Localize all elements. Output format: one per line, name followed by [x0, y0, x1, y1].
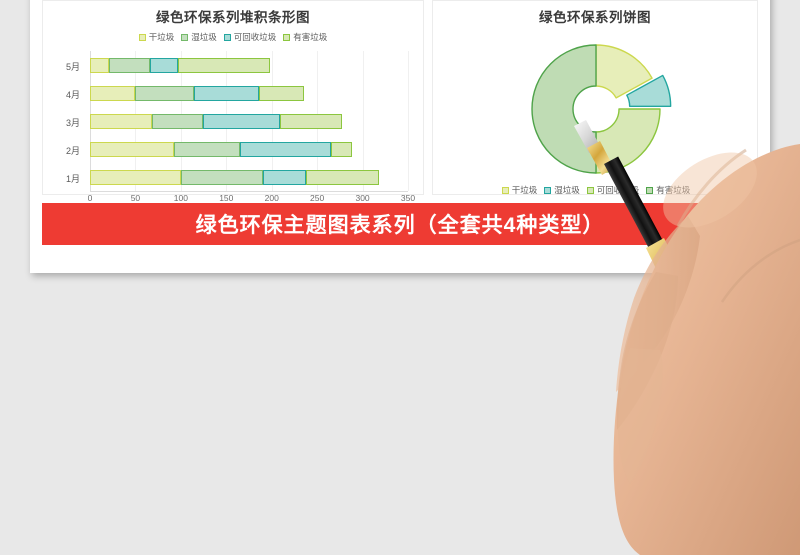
x-tick-label: 250 [310, 193, 324, 203]
bar-stack-track [90, 114, 408, 129]
page-sheet: 绿色环保系列堆积条形图 干垃圾湿垃圾可回收垃圾有害垃圾 5月4月3月2月1月 0… [30, 0, 770, 273]
legend-swatch-icon [139, 34, 146, 41]
x-tick-label: 350 [401, 193, 415, 203]
bar-segment[interactable] [90, 86, 135, 101]
legend-label: 干垃圾 [512, 184, 538, 196]
bar-segment[interactable] [280, 114, 342, 129]
legend-label: 湿垃圾 [191, 31, 217, 43]
bar-segment[interactable] [174, 142, 240, 157]
legend-label: 湿垃圾 [554, 184, 580, 196]
legend-label: 有害垃圾 [293, 31, 327, 43]
bar-segment[interactable] [90, 170, 181, 185]
bar-segment[interactable] [178, 58, 270, 73]
bar-segment[interactable] [109, 58, 150, 73]
bar-legend-item[interactable]: 可回收垃圾 [224, 31, 277, 43]
legend-label: 有害垃圾 [656, 184, 690, 196]
x-tick-label: 0 [88, 193, 93, 203]
bar-category-label: 3月 [46, 116, 80, 129]
legend-label: 可回收垃圾 [597, 184, 640, 196]
legend-swatch-icon [502, 187, 509, 194]
legend-swatch-icon [224, 34, 231, 41]
legend-label: 可回收垃圾 [234, 31, 277, 43]
bar-legend-item[interactable]: 有害垃圾 [283, 31, 327, 43]
bar-category-label: 4月 [46, 88, 80, 101]
bar-chart-card: 绿色环保系列堆积条形图 干垃圾湿垃圾可回收垃圾有害垃圾 5月4月3月2月1月 0… [42, 0, 424, 195]
bar-chart-plot: 5月4月3月2月1月 050100150200250300350 [43, 51, 425, 196]
bar-segment[interactable] [135, 86, 194, 101]
legend-swatch-icon [646, 187, 653, 194]
bar-stack-track [90, 170, 408, 185]
bar-row[interactable]: 5月 [43, 51, 425, 79]
pie-legend-item[interactable]: 干垃圾 [502, 184, 538, 196]
bar-segment[interactable] [331, 142, 352, 157]
x-tick-label: 150 [219, 193, 233, 203]
bar-chart-title: 绿色环保系列堆积条形图 [43, 6, 423, 26]
x-tick-label: 300 [355, 193, 369, 203]
pie-chart-plot [433, 39, 759, 179]
bar-chart-legend: 干垃圾湿垃圾可回收垃圾有害垃圾 [43, 31, 423, 43]
bar-segment[interactable] [203, 114, 280, 129]
bar-segment[interactable] [90, 142, 174, 157]
pie-chart-legend-wrap: 干垃圾湿垃圾可回收垃圾有害垃圾 [433, 179, 759, 196]
pie-slice[interactable] [532, 45, 596, 173]
bar-row[interactable]: 2月 [43, 135, 425, 163]
bar-segment[interactable] [152, 114, 203, 129]
pie-legend-item[interactable]: 有害垃圾 [646, 184, 690, 196]
bar-segment[interactable] [150, 58, 178, 73]
bar-segment[interactable] [240, 142, 331, 157]
promo-banner-text: 绿色环保主题图表系列（全套共4种类型） [196, 209, 605, 239]
doughnut-svg [433, 39, 759, 179]
bar-legend-item[interactable]: 湿垃圾 [181, 31, 217, 43]
legend-swatch-icon [544, 187, 551, 194]
bar-category-label: 5月 [46, 60, 80, 73]
bar-row[interactable]: 1月 [43, 163, 425, 191]
legend-swatch-icon [587, 187, 594, 194]
bar-segment[interactable] [259, 86, 304, 101]
bar-segment[interactable] [263, 170, 307, 185]
bar-row[interactable]: 4月 [43, 79, 425, 107]
bar-stack-track [90, 58, 408, 73]
legend-label: 干垃圾 [149, 31, 175, 43]
bar-row[interactable]: 3月 [43, 107, 425, 135]
pie-chart-legend: 干垃圾湿垃圾可回收垃圾有害垃圾 [433, 184, 759, 196]
bar-legend-item[interactable]: 干垃圾 [139, 31, 175, 43]
pie-legend-item[interactable]: 可回收垃圾 [587, 184, 640, 196]
legend-swatch-icon [283, 34, 290, 41]
bar-segment[interactable] [90, 114, 152, 129]
pie-chart-title: 绿色环保系列饼图 [433, 6, 757, 26]
x-tick-label: 200 [265, 193, 279, 203]
pie-slice[interactable] [596, 109, 660, 173]
legend-swatch-icon [181, 34, 188, 41]
bar-x-axis-line [90, 191, 408, 192]
bar-segment[interactable] [181, 170, 263, 185]
x-tick-label: 100 [174, 193, 188, 203]
pie-chart-card: 绿色环保系列饼图 干垃圾湿垃圾可回收垃圾有害垃圾 [432, 0, 758, 195]
x-tick-label: 50 [131, 193, 140, 203]
bar-segment[interactable] [90, 58, 109, 73]
bar-segment[interactable] [306, 170, 379, 185]
pie-legend-item[interactable]: 湿垃圾 [544, 184, 580, 196]
bar-stack-track [90, 142, 408, 157]
promo-banner: 绿色环保主题图表系列（全套共4种类型） [42, 203, 758, 245]
bar-stack-track [90, 86, 408, 101]
bar-category-label: 2月 [46, 144, 80, 157]
bar-segment[interactable] [194, 86, 259, 101]
bar-category-label: 1月 [46, 172, 80, 185]
